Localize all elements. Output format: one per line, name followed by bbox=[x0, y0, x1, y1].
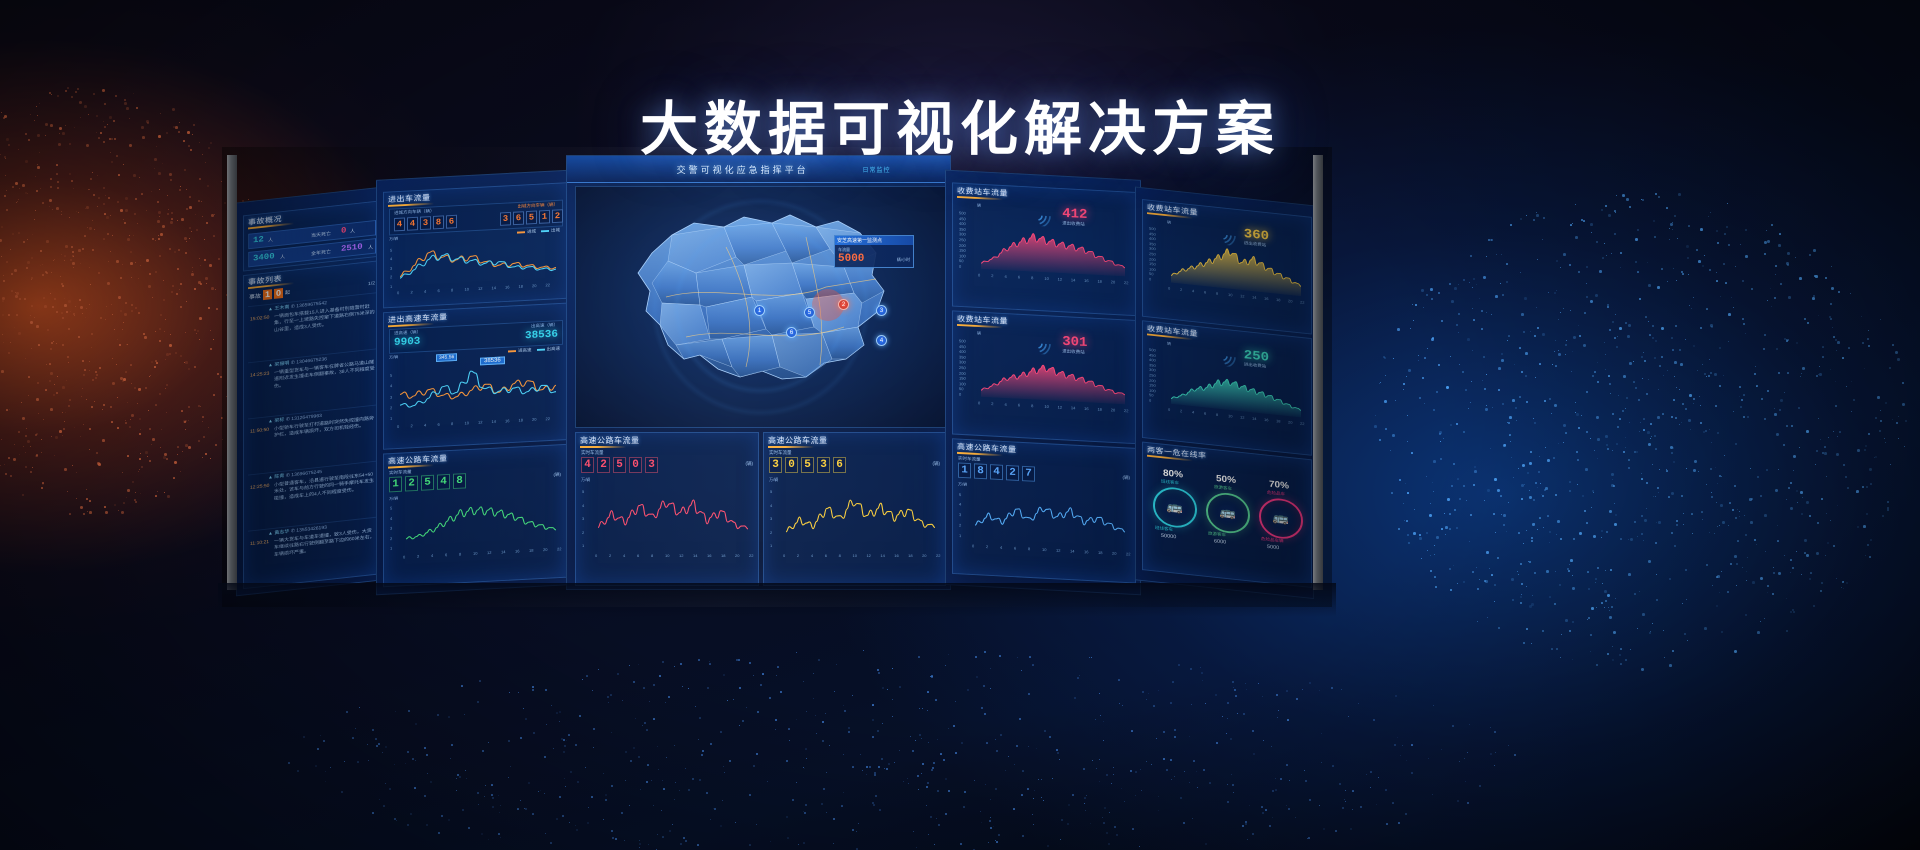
accident-overview: 事故概况12人当天死亡0人3400人全年死亡2510人 bbox=[243, 200, 381, 271]
highway-in-value: 9903 bbox=[394, 336, 420, 349]
inout-y-unit: 万/辆 bbox=[389, 236, 398, 242]
x-tick: 6 bbox=[637, 553, 639, 558]
highway-flow-panel-1: 高速公路车流量实时车流量42503(辆)万/辆12345024681012141… bbox=[575, 432, 759, 586]
digit-cell: 4 bbox=[394, 217, 405, 231]
accident-stat-sub-value: 2510 bbox=[341, 242, 363, 253]
highway-entry-chart bbox=[398, 357, 558, 421]
inout-flow-panel: 进出车流量进城方向车辆（辆）出城方向车辆（辆）4438636512万/辆进城出城… bbox=[383, 182, 567, 308]
digit-cell: 3 bbox=[500, 212, 511, 226]
highway-flow-chart-2 bbox=[784, 483, 937, 549]
gauge-ring: 🚌 bbox=[1259, 496, 1303, 540]
highway-flow-chart-1 bbox=[596, 483, 750, 549]
accident-stat-label: 全年死亡 bbox=[311, 248, 331, 257]
digit-cell: 4 bbox=[990, 464, 1003, 480]
x-tick: 12 bbox=[1056, 548, 1060, 553]
digit-cell: 6 bbox=[446, 215, 457, 229]
accident-stat-sub-value: 0 bbox=[341, 226, 346, 236]
y-tick: 200 bbox=[959, 370, 966, 375]
x-tick: 10 bbox=[853, 553, 857, 558]
digit-cell: 3 bbox=[769, 457, 782, 473]
legend-item: 出高速 bbox=[537, 346, 561, 353]
x-tick: 20 bbox=[1288, 299, 1292, 304]
digit-cell: 5 bbox=[526, 211, 537, 225]
x-tick: 14 bbox=[1071, 277, 1075, 282]
digit-cell: 2 bbox=[1006, 465, 1019, 481]
highway-y-unit: 万/辆 bbox=[389, 354, 398, 360]
y-tick: 500 bbox=[959, 338, 966, 343]
accident-item-time: 11:10:21 bbox=[250, 539, 269, 547]
legend-swatch bbox=[508, 350, 516, 352]
x-tick: 8 bbox=[1216, 291, 1218, 296]
x-tick: 12 bbox=[478, 286, 482, 291]
digit-cell: 8 bbox=[453, 473, 466, 489]
x-tick: 0 bbox=[972, 543, 974, 548]
map-marker[interactable]: 2 bbox=[838, 299, 849, 310]
toll-station-chart-3 bbox=[1169, 348, 1303, 418]
y-tick: 5 bbox=[390, 247, 392, 252]
y-tick: 100 bbox=[1149, 388, 1156, 393]
x-tick: 18 bbox=[1276, 419, 1280, 424]
x-tick: 0 bbox=[978, 400, 980, 405]
highway-flow-panel-2-title: 高速公路车流量 bbox=[768, 435, 828, 446]
x-tick: 6 bbox=[1014, 546, 1016, 551]
digit-cell: 5 bbox=[613, 457, 626, 473]
map-tooltip-unit: 辆/小时 bbox=[897, 257, 910, 263]
highway-sub-label: 实时车流量 bbox=[581, 450, 604, 456]
toll-station-panel-0: 收费站车流量412进出收费站辆0501001502002503003504004… bbox=[952, 182, 1136, 316]
x-tick: 18 bbox=[908, 553, 912, 558]
x-tick: 2 bbox=[609, 553, 611, 558]
accident-stat-label: 当天死亡 bbox=[311, 230, 331, 239]
map-tooltip: 安芝高速第一监测点车流量5000辆/小时 bbox=[834, 235, 914, 268]
x-tick: 4 bbox=[1192, 288, 1194, 293]
vehicle-icon: 🚌 bbox=[1167, 499, 1183, 515]
gauge-caption: 旅游客车 bbox=[1214, 484, 1232, 491]
x-tick: 6 bbox=[445, 552, 447, 557]
digit-cell: 3 bbox=[420, 216, 431, 230]
legend-item: 进高速 bbox=[508, 347, 532, 354]
x-tick: 12 bbox=[478, 420, 482, 425]
x-tick: 0 bbox=[397, 424, 399, 429]
highway-out-value: 38536 bbox=[525, 329, 558, 342]
y-tick: 350 bbox=[959, 354, 966, 359]
x-tick: 2 bbox=[1180, 287, 1182, 292]
y-tick: 150 bbox=[1149, 261, 1156, 266]
digit-cell: 2 bbox=[405, 476, 418, 492]
y-tick: 100 bbox=[959, 253, 966, 258]
y-tick: 200 bbox=[1149, 378, 1156, 383]
highway-digits: 18427 bbox=[958, 462, 1035, 481]
legend-item: 进城 bbox=[517, 229, 536, 236]
y-tick: 350 bbox=[959, 226, 966, 231]
x-tick: 2 bbox=[991, 273, 993, 278]
x-tick: 10 bbox=[473, 551, 477, 556]
x-tick: 20 bbox=[532, 283, 536, 288]
vehicle-icon: 🚌 bbox=[1273, 511, 1289, 527]
map-tooltip-title: 安芝高速第一监测点 bbox=[835, 236, 913, 245]
accident-item-name: ▲ 陈青 bbox=[268, 473, 284, 480]
x-tick: 20 bbox=[1112, 551, 1116, 556]
x-tick: 18 bbox=[1098, 550, 1102, 555]
x-tick: 18 bbox=[721, 553, 725, 558]
vehicle-icon: 🚌 bbox=[1220, 505, 1236, 521]
y-tick: 500 bbox=[1149, 347, 1156, 352]
x-tick: 14 bbox=[1071, 405, 1075, 410]
y-tick: 450 bbox=[1149, 352, 1156, 357]
x-tick: 8 bbox=[451, 288, 453, 293]
digit-cell: 7 bbox=[1022, 466, 1035, 482]
x-tick: 4 bbox=[1192, 410, 1194, 415]
y-tick: 450 bbox=[1149, 231, 1156, 236]
gauge-caption: 危险品车 bbox=[1267, 490, 1285, 497]
y-tick: 250 bbox=[1149, 251, 1156, 256]
toll-y-unit: 辆 bbox=[1167, 341, 1171, 347]
x-tick: 2 bbox=[797, 553, 799, 558]
x-tick: 6 bbox=[1204, 290, 1206, 295]
wall-panel-4: 收费站车流量360进出收费站辆0501001502002503003504004… bbox=[1135, 187, 1314, 599]
wall-panel-3: 收费站车流量412进出收费站辆0501001502002503003504004… bbox=[945, 170, 1141, 596]
x-tick: 4 bbox=[1005, 274, 1007, 279]
page-title: 大数据可视化解决方案 bbox=[0, 82, 1920, 166]
highway-flow-panel-2: 高速公路车流量实时车流量30536(辆)万/辆12345024681012141… bbox=[763, 432, 946, 586]
y-tick: 0 bbox=[959, 264, 961, 269]
x-tick: 8 bbox=[1031, 403, 1033, 408]
y-tick: 400 bbox=[1149, 236, 1156, 241]
x-tick: 12 bbox=[1058, 405, 1062, 410]
x-tick: 16 bbox=[505, 285, 509, 290]
x-tick: 0 bbox=[595, 553, 597, 558]
x-tick: 0 bbox=[397, 290, 399, 295]
x-tick: 18 bbox=[519, 418, 523, 423]
wall-base-shadow bbox=[218, 583, 1336, 617]
y-tick: 100 bbox=[959, 381, 966, 386]
x-tick: 12 bbox=[1240, 293, 1244, 298]
digit-cell: 4 bbox=[437, 474, 450, 490]
y-tick: 50 bbox=[1149, 393, 1153, 398]
legend-label: 出高速 bbox=[547, 346, 561, 352]
accident-counter-label: 事故 bbox=[249, 291, 261, 300]
x-tick: 6 bbox=[438, 422, 440, 427]
y-tick: 400 bbox=[959, 349, 966, 354]
highway-digit-unit: (辆) bbox=[933, 461, 941, 467]
wall-slab-3: 收费站车流量412进出收费站辆0501001502002503003504004… bbox=[945, 170, 1141, 596]
toll-y-unit: 辆 bbox=[977, 203, 981, 209]
digit-cell: 2 bbox=[552, 209, 563, 223]
accident-stat-value: 3400 bbox=[253, 252, 275, 263]
wall-slab-0: 事故概况12人当天死亡0人3400人全年死亡2510人事故列表事故10起1/2 … bbox=[236, 187, 384, 597]
digit-cell: 5 bbox=[421, 475, 434, 491]
x-tick: 18 bbox=[519, 284, 523, 289]
x-tick: 16 bbox=[515, 549, 519, 554]
map-marker[interactable]: 6 bbox=[786, 327, 797, 338]
y-tick: 5 bbox=[390, 506, 392, 511]
accident-list-item[interactable]: ▲ 黄志华 ✆ 1355342619311:10:21一辆大货车与车道车道撞，致… bbox=[248, 517, 376, 584]
x-tick: 6 bbox=[438, 288, 440, 293]
accident-item-name: ▲ 梁振明 bbox=[268, 361, 289, 369]
y-tick: 350 bbox=[1149, 362, 1156, 367]
x-tick: 2 bbox=[417, 554, 419, 559]
toll-station-panel-1: 收费站车流量360进出收费站辆0501001502002503003504004… bbox=[1142, 199, 1312, 335]
y-tick: 450 bbox=[959, 344, 966, 349]
y-tick: 1 bbox=[390, 546, 392, 551]
wall-slab-1: 进出车流量进城方向车辆（辆）出城方向车辆（辆）4438636512万/辆进城出城… bbox=[376, 170, 572, 596]
highway-flow-panel-3: 高速公路车流量实时车流量18427(辆)万/辆12345024681012141… bbox=[952, 438, 1136, 583]
highway-y-unit: 万/辆 bbox=[958, 482, 967, 488]
y-tick: 50 bbox=[959, 386, 963, 391]
map-tooltip-row: 5000辆/小时 bbox=[838, 253, 910, 265]
highway-flow-panel-1-title: 高速公路车流量 bbox=[580, 435, 640, 446]
x-tick: 14 bbox=[501, 549, 505, 554]
x-tick: 4 bbox=[1000, 545, 1002, 550]
y-tick: 3 bbox=[582, 516, 584, 521]
y-tick: 4 bbox=[390, 257, 392, 262]
x-tick: 8 bbox=[451, 421, 453, 426]
y-tick: 100 bbox=[1149, 267, 1156, 272]
y-tick: 2 bbox=[390, 536, 392, 541]
y-tick: 4 bbox=[390, 516, 392, 521]
highway-y-unit: 万/辆 bbox=[581, 477, 590, 483]
y-tick: 5 bbox=[770, 489, 772, 494]
y-tick: 250 bbox=[959, 365, 966, 370]
x-tick: 4 bbox=[424, 289, 426, 294]
online-rate-panel: 两客一危在线率80%班线客车🚌班线客车5000050%旅游客车🚌旅游客车6000… bbox=[1142, 442, 1312, 588]
x-tick: 2 bbox=[411, 423, 413, 428]
y-tick: 350 bbox=[1149, 241, 1156, 246]
x-tick: 22 bbox=[1124, 280, 1128, 285]
inout-in-digits: 44386 bbox=[394, 215, 457, 232]
digit-cell: 0 bbox=[629, 457, 642, 473]
gauge-sub-label: 危险品车辆 bbox=[1261, 536, 1284, 544]
highway-sub-label: 实时车流量 bbox=[769, 450, 792, 456]
x-tick: 8 bbox=[1216, 412, 1218, 417]
x-tick: 16 bbox=[1084, 278, 1088, 283]
x-tick: 20 bbox=[1288, 420, 1292, 425]
digit-cell: 2 bbox=[597, 457, 610, 473]
x-tick: 20 bbox=[735, 553, 739, 558]
accident-item-name: ▲ 黄志华 bbox=[268, 529, 289, 537]
x-tick: 18 bbox=[529, 548, 533, 553]
map-marker[interactable]: 1 bbox=[754, 305, 765, 316]
x-tick: 2 bbox=[411, 290, 413, 295]
highway-y-unit: 万/辆 bbox=[389, 496, 398, 502]
inout-in-label: 进城方向车辆（辆） bbox=[394, 208, 435, 216]
x-tick: 18 bbox=[1276, 297, 1280, 302]
accident-counter-digit: 1 bbox=[263, 289, 272, 300]
legend-swatch bbox=[517, 231, 525, 233]
x-tick: 6 bbox=[825, 553, 827, 558]
digit-cell: 4 bbox=[581, 457, 594, 473]
wall-edge-left[interactable] bbox=[227, 155, 237, 590]
accident-list-page: 1/2 bbox=[368, 281, 375, 287]
y-tick: 400 bbox=[1149, 357, 1156, 362]
y-tick: 500 bbox=[1149, 226, 1156, 231]
x-tick: 22 bbox=[1300, 300, 1304, 305]
y-tick: 3 bbox=[390, 526, 392, 531]
digit-cell: 8 bbox=[433, 215, 444, 229]
x-tick: 0 bbox=[403, 555, 405, 560]
accident-item-name: ▲ 梁标 bbox=[268, 417, 284, 424]
y-tick: 150 bbox=[959, 248, 966, 253]
x-tick: 4 bbox=[811, 553, 813, 558]
y-tick: 1 bbox=[582, 543, 584, 548]
legend-label: 进城 bbox=[527, 229, 536, 235]
map-container: 156234安芝高速第一监测点车流量5000辆/小时 bbox=[575, 186, 946, 428]
digit-cell: 8 bbox=[974, 463, 987, 479]
x-tick: 10 bbox=[465, 287, 469, 292]
highway-digits: 12548 bbox=[389, 473, 466, 492]
y-tick: 300 bbox=[1149, 246, 1156, 251]
highway-flow-panel-2-underline bbox=[768, 446, 814, 448]
x-tick: 10 bbox=[665, 553, 669, 558]
x-tick: 16 bbox=[1264, 296, 1268, 301]
x-tick: 10 bbox=[1228, 292, 1232, 297]
x-tick: 10 bbox=[1044, 404, 1048, 409]
wall-panel-0: 事故概况12人当天死亡0人3400人全年死亡2510人事故列表事故10起1/2 … bbox=[236, 187, 384, 597]
legend-swatch bbox=[541, 230, 549, 232]
x-tick: 6 bbox=[1204, 411, 1206, 416]
y-tick: 200 bbox=[1149, 256, 1156, 261]
gauge-ring: 🚌 bbox=[1206, 491, 1250, 535]
x-tick: 10 bbox=[1042, 547, 1046, 552]
legend-item: 出城 bbox=[541, 227, 560, 234]
x-tick: 8 bbox=[459, 552, 461, 557]
x-tick: 12 bbox=[1240, 415, 1244, 420]
x-tick: 20 bbox=[1111, 279, 1115, 284]
x-tick: 22 bbox=[1126, 551, 1130, 556]
toll-y-unit: 辆 bbox=[977, 331, 981, 337]
map-tooltip-value: 5000 bbox=[838, 253, 864, 265]
x-tick: 2 bbox=[1180, 408, 1182, 413]
x-tick: 12 bbox=[866, 553, 870, 558]
highway-flow-chart-3 bbox=[973, 488, 1127, 548]
digit-cell: 1 bbox=[539, 210, 550, 224]
x-tick: 22 bbox=[546, 282, 550, 287]
x-tick: 10 bbox=[465, 420, 469, 425]
x-tick: 0 bbox=[1168, 407, 1170, 412]
x-tick: 16 bbox=[894, 553, 898, 558]
x-tick: 18 bbox=[1097, 279, 1101, 284]
legend-label: 出城 bbox=[551, 227, 560, 233]
wall-panel-2: 交警可视化应急指挥平台日常监控南山▦2018-0156234安芝高速第一监测点车… bbox=[566, 155, 951, 590]
accident-list: 事故列表事故10起1/2 ▲ 王木南 ✆ 1365967554215:02:50… bbox=[243, 260, 381, 589]
y-tick: 2 bbox=[959, 523, 961, 528]
x-tick: 10 bbox=[1044, 276, 1048, 281]
x-tick: 22 bbox=[749, 553, 753, 558]
gauge-ring: 🚌 bbox=[1153, 485, 1197, 529]
y-tick: 4 bbox=[959, 502, 961, 507]
x-tick: 4 bbox=[623, 553, 625, 558]
x-tick: 8 bbox=[1028, 546, 1030, 551]
highway-flow-chart-0 bbox=[404, 493, 558, 551]
x-tick: 12 bbox=[679, 553, 683, 558]
x-tick: 14 bbox=[880, 553, 884, 558]
y-tick: 2 bbox=[390, 275, 392, 280]
highway-flow-panel-1-underline bbox=[580, 446, 626, 448]
y-tick: 300 bbox=[1149, 368, 1156, 373]
y-tick: 5 bbox=[390, 373, 392, 378]
digit-cell: 6 bbox=[833, 457, 846, 473]
dashboard-subtitle: 日常监控 bbox=[863, 165, 891, 174]
accident-stat-unit: 人 bbox=[280, 253, 285, 260]
x-tick: 14 bbox=[1252, 416, 1256, 421]
inout-out-digits: 36512 bbox=[500, 209, 563, 226]
highway-flow-panel-0: 高速公路车流量实时车流量12548(辆)万/辆12345024681012141… bbox=[383, 444, 567, 587]
map-marker[interactable]: 4 bbox=[876, 335, 887, 346]
map-marker[interactable]: 3 bbox=[876, 305, 887, 316]
accident-item-name: ▲ 王木南 bbox=[268, 305, 289, 313]
highway-entry-panel: 进出高速车流量进高速（辆）9903出高速（辆）38536万/辆345.56385… bbox=[383, 303, 567, 450]
y-tick: 250 bbox=[1149, 373, 1156, 378]
map-marker[interactable]: 5 bbox=[804, 307, 815, 318]
x-tick: 14 bbox=[693, 553, 697, 558]
highway-digits: 42503 bbox=[581, 457, 658, 473]
x-tick: 16 bbox=[1084, 549, 1088, 554]
gauge-sub-label: 班线客车 bbox=[1155, 525, 1173, 532]
x-tick: 16 bbox=[505, 418, 509, 423]
inout-out-label: 出城方向车辆（辆） bbox=[518, 202, 559, 210]
y-tick: 4 bbox=[390, 384, 392, 389]
x-tick: 22 bbox=[1300, 421, 1304, 426]
digit-cell: 3 bbox=[817, 457, 830, 473]
y-tick: 0 bbox=[959, 392, 961, 397]
toll-station-panel-3: 收费站车流量250进出收费站辆0501001502002503003504004… bbox=[1142, 320, 1312, 456]
x-tick: 18 bbox=[1097, 407, 1101, 412]
x-tick: 4 bbox=[431, 553, 433, 558]
accident-item-time: 14:25:23 bbox=[250, 371, 269, 379]
poster-stage: 大数据可视化解决方案 事故概况12人当天死亡0人3400人全年死亡2510人事故… bbox=[0, 0, 1920, 850]
highway-y-unit: 万/辆 bbox=[769, 477, 778, 483]
gauge-caption: 班线客车 bbox=[1161, 479, 1179, 486]
y-tick: 3 bbox=[959, 512, 961, 517]
y-tick: 1 bbox=[959, 533, 961, 538]
y-tick: 4 bbox=[582, 503, 584, 508]
x-tick: 10 bbox=[1228, 413, 1232, 418]
y-tick: 400 bbox=[959, 221, 966, 226]
x-tick: 8 bbox=[1031, 275, 1033, 280]
gauge-sub-value: 5000 bbox=[1267, 544, 1279, 551]
accident-item-time: 11:50:50 bbox=[250, 427, 269, 435]
x-tick: 14 bbox=[492, 285, 496, 290]
digit-cell: 3 bbox=[645, 457, 658, 473]
highway-digit-unit: (辆) bbox=[554, 472, 562, 478]
x-tick: 12 bbox=[1058, 277, 1062, 282]
x-tick: 20 bbox=[922, 553, 926, 558]
digit-cell: 1 bbox=[958, 462, 971, 478]
accident-counter-unit: 起 bbox=[285, 289, 290, 296]
x-tick: 12 bbox=[487, 550, 491, 555]
y-tick: 200 bbox=[959, 242, 966, 247]
y-tick: 250 bbox=[959, 237, 966, 242]
x-tick: 0 bbox=[783, 553, 785, 558]
y-tick: 1 bbox=[390, 416, 392, 421]
x-tick: 4 bbox=[1005, 402, 1007, 407]
legend-swatch bbox=[537, 349, 545, 351]
y-tick: 1 bbox=[770, 543, 772, 548]
x-tick: 20 bbox=[532, 417, 536, 422]
y-tick: 3 bbox=[390, 266, 392, 271]
x-tick: 14 bbox=[1070, 549, 1074, 554]
x-tick: 8 bbox=[839, 553, 841, 558]
y-tick: 300 bbox=[959, 232, 966, 237]
x-tick: 4 bbox=[424, 423, 426, 428]
gauge-sub-label: 旅游客车 bbox=[1208, 531, 1226, 538]
highway-digits: 30536 bbox=[769, 457, 846, 473]
x-tick: 20 bbox=[1111, 407, 1115, 412]
video-wall: 事故概况12人当天死亡0人3400人全年死亡2510人事故列表事故10起1/2 … bbox=[236, 155, 1314, 590]
digit-cell: 4 bbox=[407, 217, 418, 231]
x-tick: 22 bbox=[546, 416, 550, 421]
accident-stat-sub-unit: 人 bbox=[368, 244, 373, 251]
